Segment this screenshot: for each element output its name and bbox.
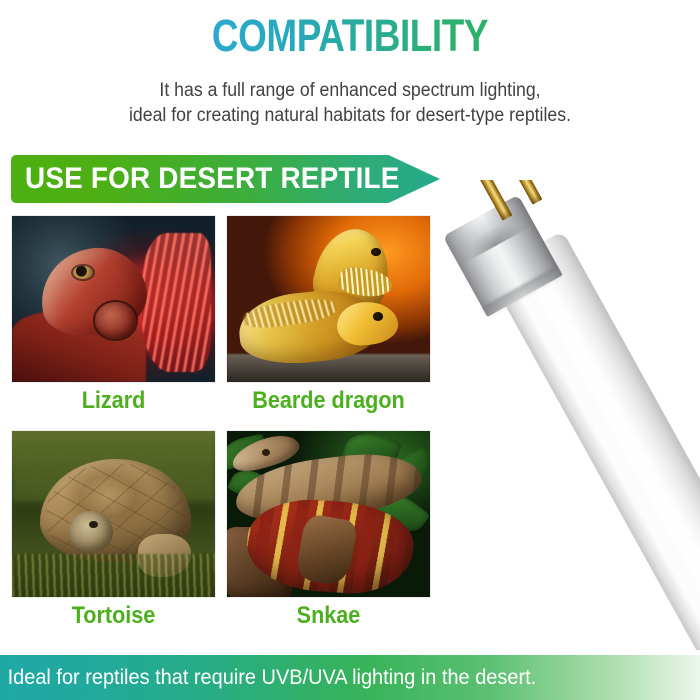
subtitle-line-2: ideal for creating natural habitats for … xyxy=(71,103,629,128)
page-title: COMPATIBILITY xyxy=(63,10,637,62)
gallery-item-bearded-dragon: Bearde dragon xyxy=(227,216,430,415)
gallery-caption-bearded-dragon: Bearde dragon xyxy=(237,387,420,415)
tortoise-head-shape xyxy=(69,511,114,553)
tube-assembly xyxy=(430,180,700,650)
bearded-dragons-photo xyxy=(227,216,430,382)
boa-constrictor-photo xyxy=(227,431,430,597)
gallery-caption-tortoise: Tortoise xyxy=(22,602,205,630)
snake-eye-shape xyxy=(262,449,270,456)
iguana-jowl-shape xyxy=(95,302,136,339)
footer-bar: Ideal for reptiles that require UVB/UVA … xyxy=(0,655,700,700)
gallery-item-lizard: Lizard xyxy=(12,216,215,415)
page-subtitle: It has a full range of enhanced spectrum… xyxy=(71,78,629,128)
gallery-item-snake: Snkae xyxy=(227,431,430,630)
infographic-page: COMPATIBILITY It has a full range of enh… xyxy=(0,0,700,700)
tortoise-in-grass-photo xyxy=(12,431,215,597)
subtitle-line-1: It has a full range of enhanced spectrum… xyxy=(71,78,629,103)
gallery-item-tortoise: Tortoise xyxy=(12,431,215,630)
t8-fluorescent-tube-lamp xyxy=(430,180,700,650)
dragon-front-eye-shape xyxy=(373,312,383,320)
iguana-crest-shape xyxy=(142,233,211,372)
tortoise-foreground-grass xyxy=(12,554,215,597)
dragon-rear-eye-shape xyxy=(371,248,381,256)
iguana-under-red-light-photo xyxy=(12,216,215,382)
gallery-caption-lizard: Lizard xyxy=(22,387,205,415)
use-for-banner: USE FOR DESERT REPTILE xyxy=(11,155,440,203)
footer-text: Ideal for reptiles that require UVB/UVA … xyxy=(0,666,536,690)
banner-label: USE FOR DESERT REPTILE xyxy=(25,155,400,203)
gallery-caption-snake: Snkae xyxy=(237,602,420,630)
